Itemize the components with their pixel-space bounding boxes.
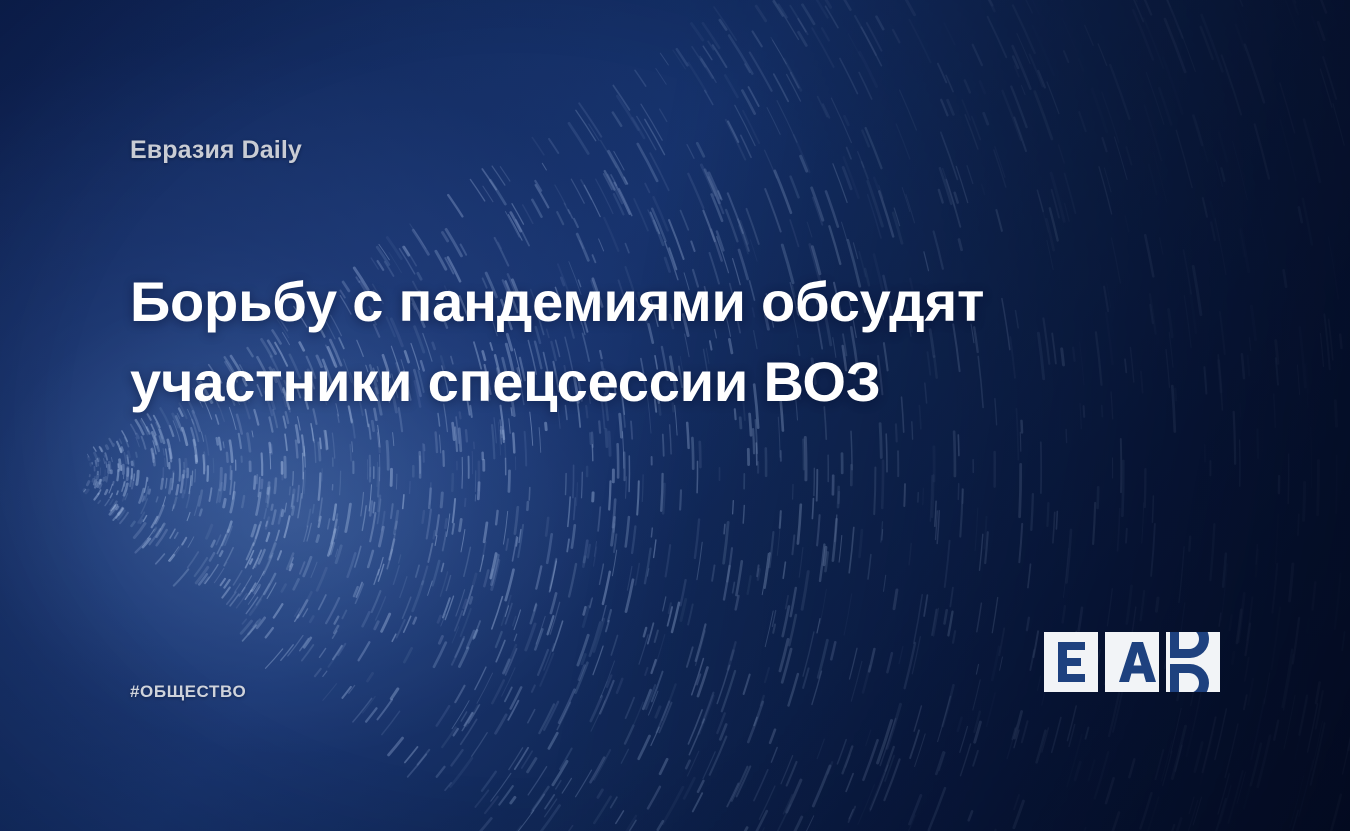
category-tag[interactable]: #ОБЩЕСТВО	[130, 682, 246, 702]
page-title: Борьбу с пандемиями обсудят участники сп…	[130, 262, 1030, 421]
card-content: Евразия Daily Борьбу с пандемиями обсудя…	[0, 0, 1350, 831]
social-share-card: Евразия Daily Борьбу с пандемиями обсудя…	[0, 0, 1350, 831]
logo-letter-e	[1058, 642, 1085, 682]
eadaily-logo[interactable]	[1044, 632, 1220, 692]
brand-name: Евразия Daily	[130, 136, 302, 165]
